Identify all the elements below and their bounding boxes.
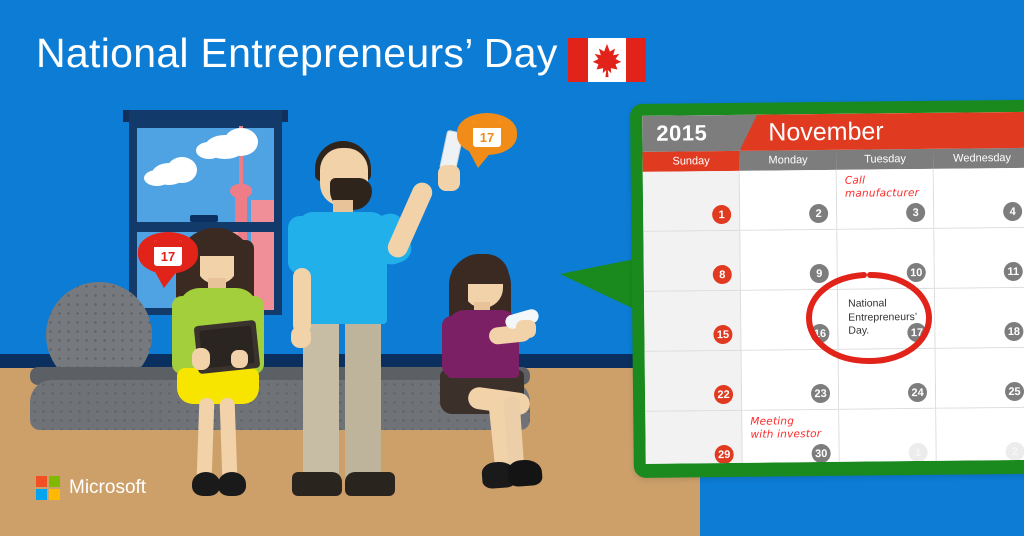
microsoft-wordmark: Microsoft (69, 477, 146, 499)
speech-bubble-man-phone: 17 (457, 113, 517, 155)
flag-band-left (568, 38, 588, 82)
calendar-day-number: 1 (712, 205, 731, 224)
hand-left (291, 326, 311, 348)
logo-square (36, 489, 47, 500)
calendar-day-cell[interactable]: 2 (936, 408, 1024, 464)
calendar-icon: 17 (154, 240, 182, 266)
calendar-day-cell[interactable]: 29 (645, 411, 743, 464)
calendar-weekday-monday: Monday (739, 150, 836, 171)
microsoft-logo-icon (36, 476, 60, 500)
calendar-grid: 12Call manufacturer348910111516National … (643, 168, 1024, 464)
leg-right (220, 398, 238, 482)
calendar-icon-day: 17 (161, 250, 175, 266)
calendar-day-cell[interactable]: 11 (934, 228, 1024, 289)
calendar-day-cell[interactable]: 9 (740, 230, 838, 291)
shoe-right (507, 459, 543, 487)
yellow-skirt (177, 368, 259, 404)
calendar-day-number: 18 (1004, 322, 1023, 341)
calendar-day-cell[interactable]: National Entrepreneurs’ Day.17 (838, 289, 936, 350)
calendar-note: Call manufacturer (845, 174, 919, 201)
calendar-day-cell[interactable]: Call manufacturer3 (837, 169, 935, 230)
bubble-tail (154, 270, 178, 288)
calendar-inner: 2015 November SundayMondayTuesdayWednesd… (642, 112, 1024, 464)
calendar-day-number: 17 (907, 323, 926, 342)
arm-left (442, 316, 461, 376)
calendar-day-number: 29 (715, 445, 734, 464)
calendar-day-cell[interactable]: 2 (740, 170, 838, 231)
shoe-left (192, 472, 220, 496)
speech-bubble-woman-tablet: 17 (138, 232, 198, 274)
logo-square (49, 489, 60, 500)
calendar-day-number: 15 (713, 325, 732, 344)
calendar-day-number: 1 (909, 443, 928, 462)
calendar-day-cell[interactable]: 18 (935, 288, 1024, 349)
calendar-day-cell[interactable]: 10 (837, 229, 935, 290)
hand-right (231, 350, 248, 368)
sleeve-left (288, 216, 314, 274)
bubble-tail (469, 151, 492, 168)
calendar-day-number: 2 (1006, 442, 1024, 461)
calendar-day-cell[interactable]: 1 (643, 171, 741, 232)
shoe-right (345, 472, 395, 496)
calendar-day-number: 23 (811, 384, 830, 403)
logo-square (49, 476, 60, 487)
calendar-day-cell[interactable]: 24 (839, 349, 937, 410)
page-title: National Entrepreneurs’ Day (36, 30, 558, 77)
calendar-weekday-sunday: Sunday (643, 151, 740, 172)
calendar-day-number: 30 (812, 444, 831, 463)
illustration-canvas: 17 17 2015 November SundayMondayTuesdayW… (0, 0, 1024, 536)
cloud-icon (144, 170, 170, 186)
calendar-header: 2015 November (642, 112, 1024, 152)
calendar-day-number: 16 (810, 324, 829, 343)
calendar-day-cell[interactable]: Meeting with investor30 (742, 410, 840, 464)
calendar-year: 2015 (642, 115, 740, 152)
pants-right (345, 318, 381, 478)
calendar-day-number: 4 (1003, 202, 1022, 221)
calendar-day-cell[interactable]: 4 (934, 168, 1024, 229)
window-handle (190, 215, 218, 222)
building-a (251, 200, 274, 310)
flag-band-right (626, 38, 646, 82)
calendar-weekday-wednesday: Wednesday (933, 148, 1024, 169)
leg-left (197, 398, 215, 482)
calendar-day-cell[interactable]: 1 (839, 409, 937, 464)
calendar-day-cell[interactable]: 22 (645, 351, 743, 412)
calendar-day-number: 10 (907, 263, 926, 282)
calendar-day-number: 25 (1005, 382, 1024, 401)
calendar-month: November (740, 112, 1024, 151)
calendar-day-number: 22 (714, 385, 733, 404)
shoe-right (218, 472, 246, 496)
hand (516, 320, 536, 338)
calendar-day-cell[interactable]: 16 (741, 290, 839, 351)
calendar-day-number: 11 (1004, 262, 1023, 281)
calendar-day-number: 24 (908, 383, 927, 402)
calendar-day-number: 3 (906, 203, 925, 222)
calendar-day-cell[interactable]: 8 (643, 231, 741, 292)
arm-left (293, 268, 311, 334)
calendar-weekday-tuesday: Tuesday (836, 149, 933, 170)
shoe-left (292, 472, 342, 496)
calendar-panel: 2015 November SundayMondayTuesdayWednesd… (630, 100, 1024, 478)
hand-right (438, 165, 460, 191)
hand-left (192, 348, 210, 370)
cloud-icon (196, 142, 222, 159)
cloud-icon (167, 157, 197, 183)
calendar-icon-day: 17 (480, 131, 494, 147)
calendar-day-cell[interactable]: 23 (742, 350, 840, 411)
calendar-day-cell[interactable]: 15 (644, 291, 742, 352)
maple-leaf-icon (588, 38, 626, 82)
canada-flag-icon (568, 38, 646, 82)
calendar-day-cell[interactable]: 25 (936, 348, 1024, 409)
cloud-icon (224, 128, 258, 156)
calendar-day-number: 9 (810, 264, 829, 283)
calendar-icon-header (473, 121, 501, 128)
calendar-icon: 17 (473, 121, 501, 147)
calendar-icon-header (154, 240, 182, 247)
calendar-note: Meeting with investor (750, 415, 821, 442)
flag-center (588, 38, 626, 82)
calendar-day-number: 8 (713, 265, 732, 284)
logo-square (36, 476, 47, 487)
calendar-day-number: 2 (809, 204, 828, 223)
microsoft-logo: Microsoft (36, 476, 146, 500)
